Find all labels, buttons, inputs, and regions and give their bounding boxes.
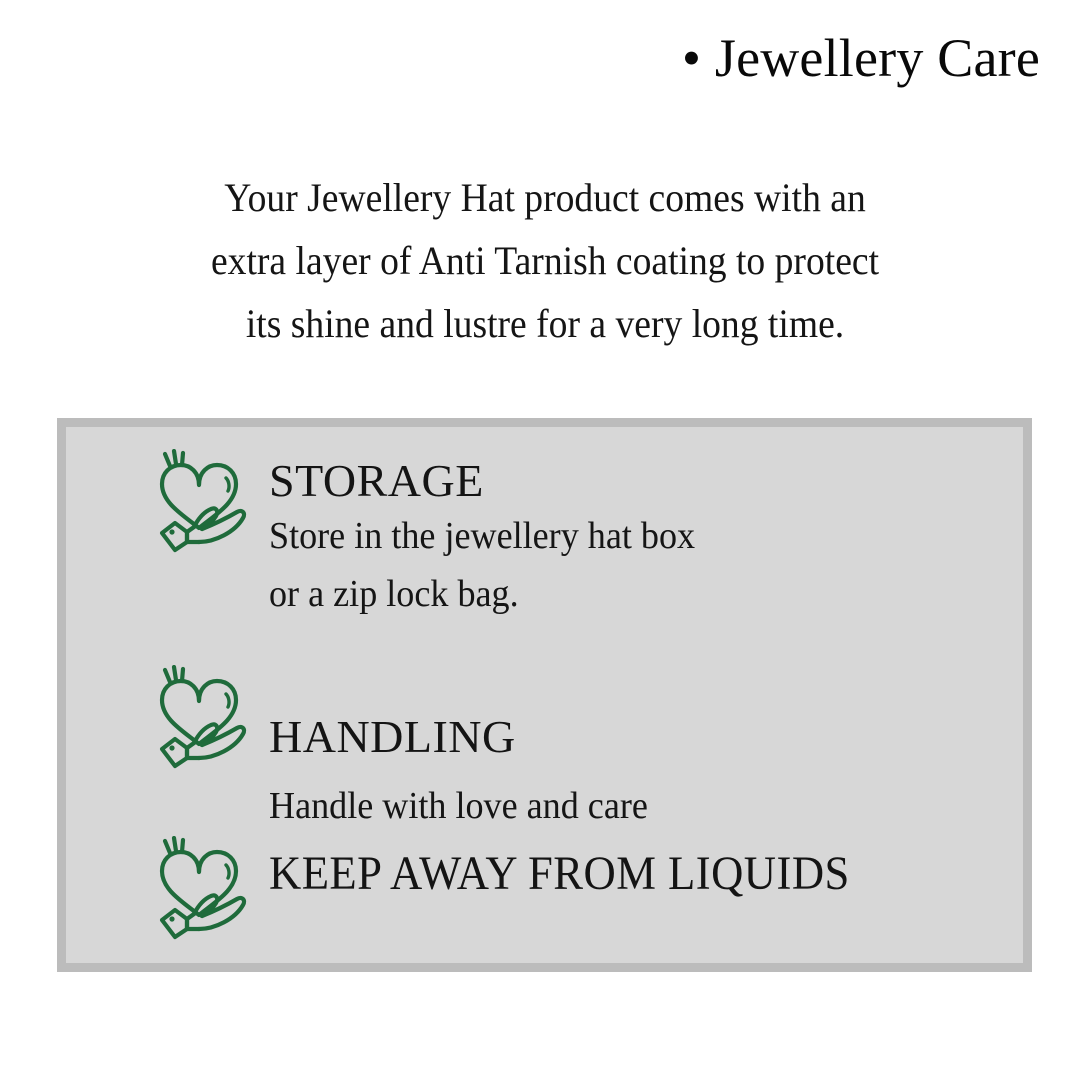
intro-line-3: its shine and lustre for a very long tim… (99, 292, 992, 355)
page-title: • Jewellery Care (682, 30, 1040, 87)
care-item-heading: HANDLING (269, 711, 668, 763)
care-item-text: STORAGE Store in the jewellery hat box o… (269, 449, 718, 623)
care-item-description-line: Store in the jewellery hat box (269, 507, 695, 565)
care-item-text: KEEP AWAY FROM LIQUIDS (269, 834, 894, 900)
intro-paragraph: Your Jewellery Hat product comes with an… (99, 166, 992, 355)
care-item-handling: HANDLING Handle with love and care (149, 659, 668, 835)
intro-line-2: extra layer of Anti Tarnish coating to p… (99, 229, 992, 292)
care-instructions-list: STORAGE Store in the jewellery hat box o… (66, 427, 1023, 963)
care-item-text: HANDLING Handle with love and care (269, 659, 668, 835)
care-item-keep-away-from-liquids: KEEP AWAY FROM LIQUIDS (149, 834, 894, 940)
heart-in-hand-icon (149, 665, 253, 769)
heart-in-hand-icon (149, 449, 253, 553)
care-instructions-box: STORAGE Store in the jewellery hat box o… (57, 418, 1032, 972)
intro-line-1: Your Jewellery Hat product comes with an (99, 166, 992, 229)
care-item-description-line: Handle with love and care (269, 777, 648, 835)
heart-in-hand-icon (149, 836, 253, 940)
page-title-row: • Jewellery Care (0, 30, 1040, 87)
care-item-description-line: or a zip lock bag. (269, 565, 695, 623)
care-item-description: Store in the jewellery hat box or a zip … (269, 507, 695, 623)
care-item-storage: STORAGE Store in the jewellery hat box o… (149, 449, 718, 623)
care-item-heading: KEEP AWAY FROM LIQUIDS (269, 848, 850, 900)
care-item-description: Handle with love and care (269, 777, 648, 835)
care-item-heading: STORAGE (269, 455, 718, 507)
